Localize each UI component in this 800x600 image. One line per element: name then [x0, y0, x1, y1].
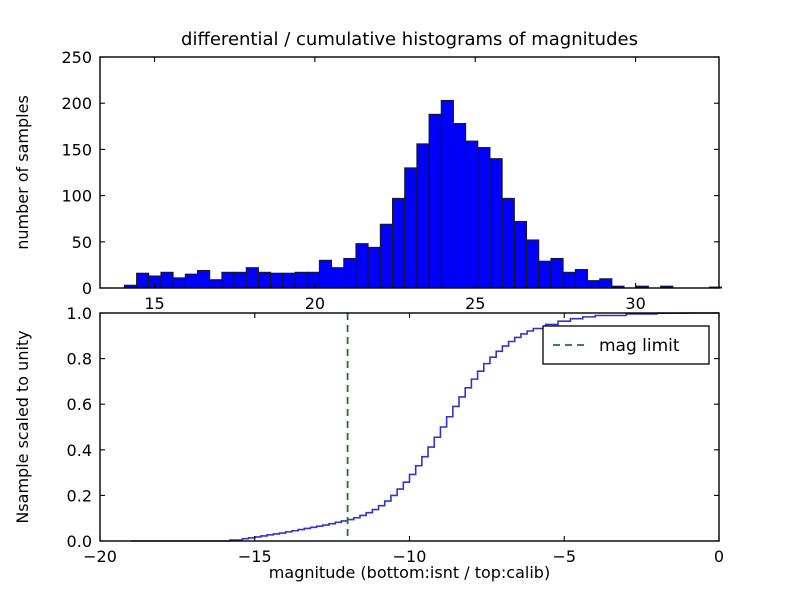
histogram-bar [210, 280, 222, 288]
histogram-bar [600, 279, 612, 288]
legend[interactable]: mag limit [543, 326, 709, 364]
bottom-xtick-label: −5 [552, 547, 576, 566]
histogram-bar [441, 100, 453, 288]
histogram-bar [502, 198, 514, 288]
histogram-bar [575, 270, 587, 288]
top-xtick-label: 30 [625, 294, 645, 313]
histogram-bar [393, 198, 405, 288]
histogram-bar [137, 273, 149, 288]
top-ytick-label: 150 [61, 140, 92, 159]
top-ytick-label: 0 [82, 279, 92, 298]
histogram-bar [246, 268, 258, 288]
histogram-bar [380, 224, 392, 288]
histogram-bar [539, 261, 551, 288]
histogram-bar [234, 272, 246, 288]
bottom-ytick-label: 1.0 [67, 304, 92, 323]
histogram-bar [563, 272, 575, 288]
bottom-ytick-label: 0.8 [67, 350, 92, 369]
histogram-bar [466, 141, 478, 288]
histogram-bar [490, 159, 502, 288]
top-panel-differential-histogram [100, 57, 722, 288]
histogram-bar [185, 274, 197, 288]
top-ytick-label: 50 [72, 233, 92, 252]
histogram-bar [527, 240, 539, 288]
histogram-bar [295, 272, 307, 288]
bottom-ytick-label: 0.6 [67, 395, 92, 414]
histogram-bar [344, 258, 356, 288]
histogram-bar [417, 144, 429, 288]
top-xtick-label: 20 [305, 294, 325, 313]
histogram-bar [429, 114, 441, 288]
histogram-bar [222, 272, 234, 288]
bottom-xtick-label: −15 [238, 547, 272, 566]
bottom-ytick-label: 0.2 [67, 486, 92, 505]
histogram-bar [588, 281, 600, 288]
histogram-bar [271, 273, 283, 288]
histogram-bar [283, 273, 295, 288]
histogram-bar [161, 272, 173, 288]
figure-canvas: 15202530050100150200250number of samples… [0, 0, 800, 600]
matplotlib-figure: 15202530050100150200250number of samples… [0, 0, 800, 600]
bottom-ytick-label: 0.0 [67, 532, 92, 551]
figure-xlabel: magnitude (bottom:isnt / top:calib) [269, 563, 550, 582]
top-ytick-label: 100 [61, 187, 92, 206]
top-ytick-label: 250 [61, 48, 92, 67]
histogram-bar [173, 278, 185, 288]
histogram-bar [551, 258, 563, 288]
bottom-ytick-label: 0.4 [67, 441, 92, 460]
legend-label: mag limit [599, 336, 680, 356]
top-ylabel: number of samples [13, 95, 32, 250]
histogram-bar [405, 168, 417, 288]
figure-title: differential / cumulative histograms of … [181, 29, 638, 50]
histogram-bar [198, 270, 210, 288]
bottom-xtick-label: 0 [714, 547, 724, 566]
histogram-bar [258, 272, 270, 288]
histogram-bar [453, 124, 465, 288]
histogram-bar [478, 148, 490, 288]
histogram-bar [332, 268, 344, 288]
top-xtick-label: 25 [465, 294, 485, 313]
histogram-bar [514, 221, 526, 288]
histogram-bar [368, 247, 380, 288]
bottom-ylabel: Nsample scaled to unity [13, 330, 32, 523]
histogram-bar [356, 244, 368, 288]
top-ytick-label: 200 [61, 94, 92, 113]
top-xtick-label: 15 [144, 294, 164, 313]
histogram-bar [319, 260, 331, 288]
histogram-bar [307, 272, 319, 288]
